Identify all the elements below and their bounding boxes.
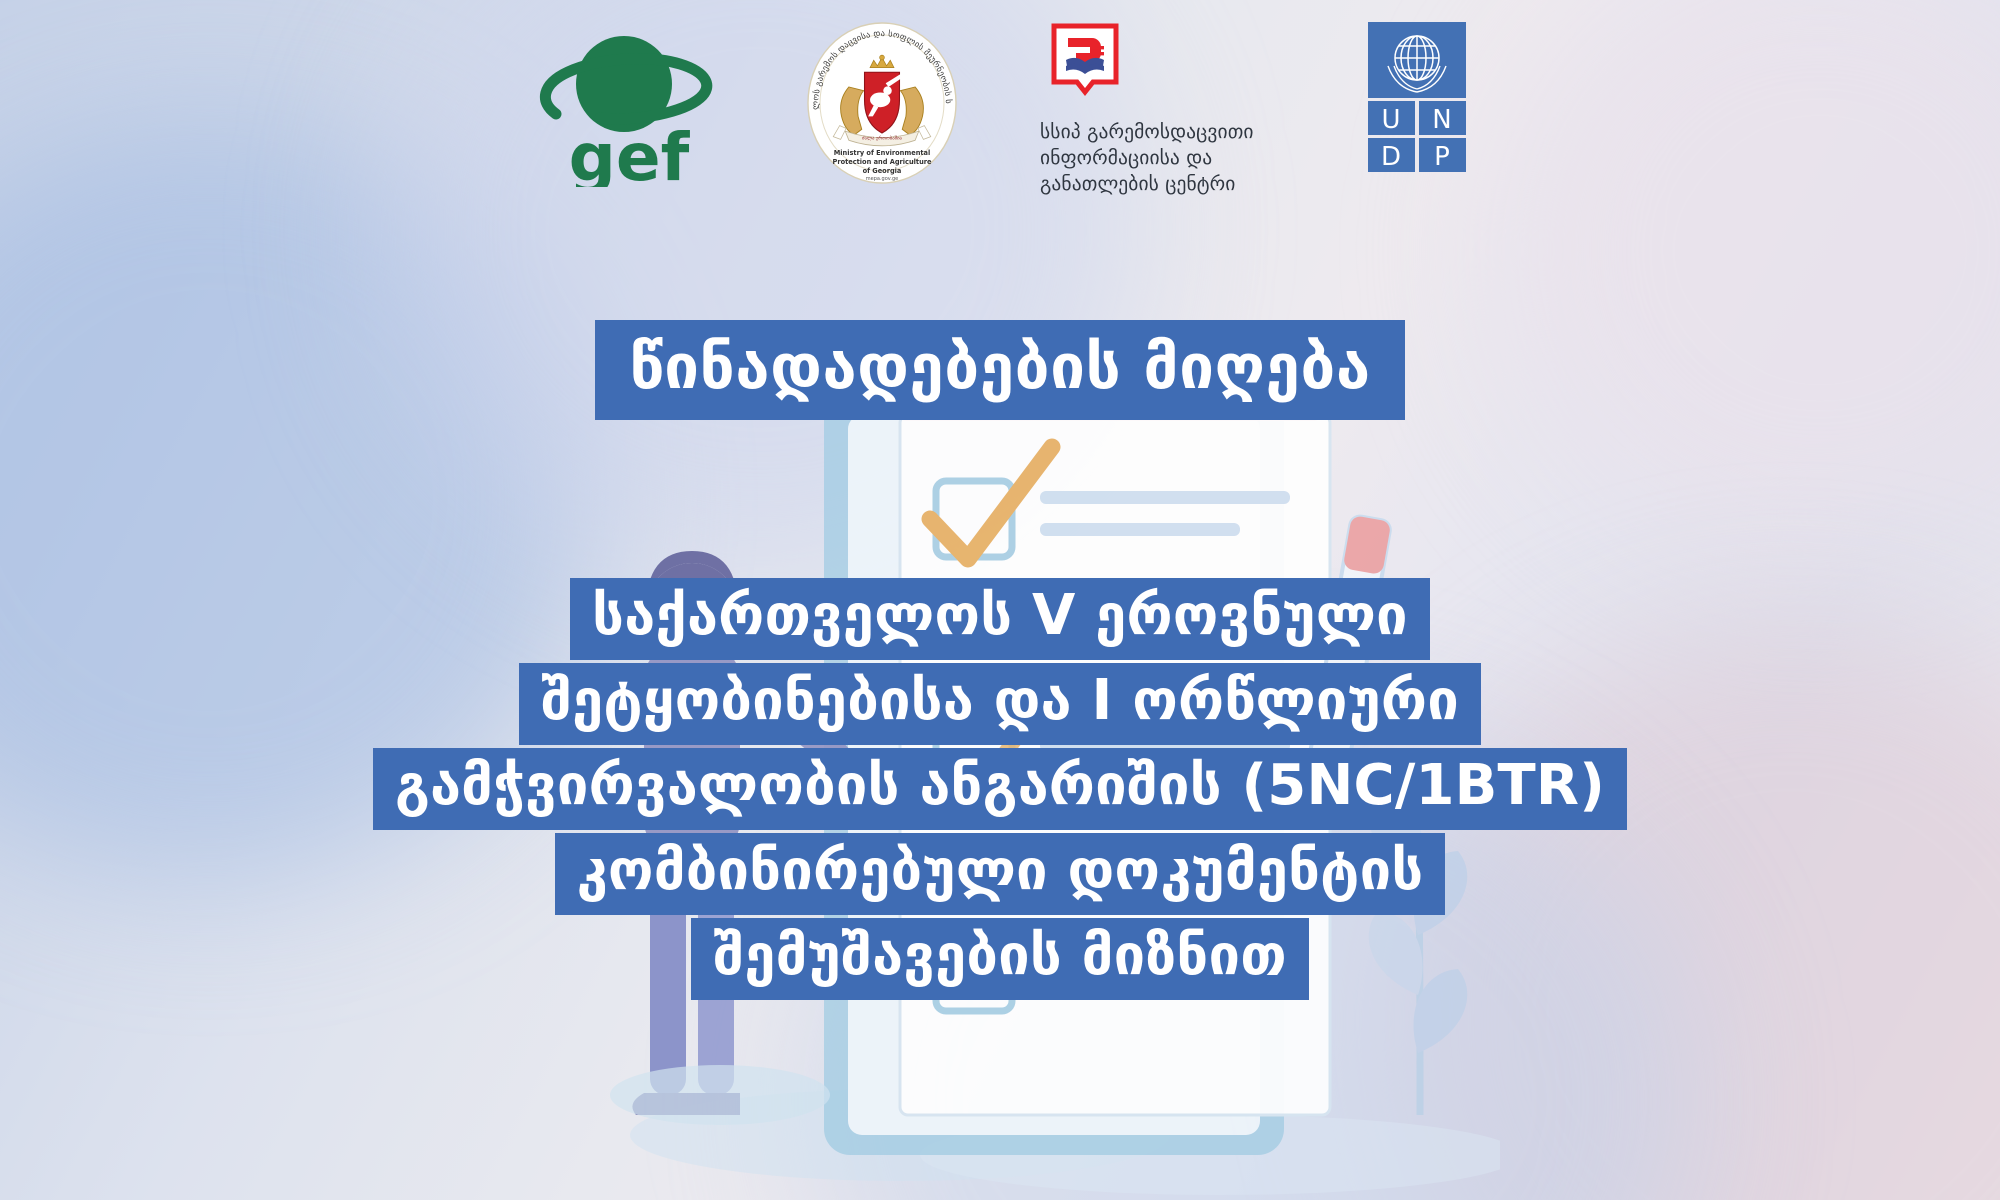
subtitle-line-2: შეტყობინებისა და I ორწლიური bbox=[519, 663, 1481, 745]
page-title: წინადადებების მიღება bbox=[595, 320, 1404, 420]
undp-logo: U N D P bbox=[1368, 22, 1466, 172]
gef-wordmark: gef bbox=[569, 119, 691, 187]
eiec-logo: სსიპ გარემოსდაცვითი ინფორმაციისა და განა… bbox=[1040, 22, 1290, 197]
georgia-ministry-seal-icon: საქართველოს გარემოს დაცვისა და სოფლის მე… bbox=[802, 22, 962, 184]
subtitle-line-4: კომბინირებული დოკუმენტის bbox=[555, 833, 1446, 915]
subtitle-block: საქართველოს V ეროვნული შეტყობინებისა და … bbox=[0, 578, 2000, 1003]
undp-letter-n: N bbox=[1432, 105, 1451, 135]
eiec-caption: სსიპ გარემოსდაცვითი ინფორმაციისა და განა… bbox=[1040, 119, 1254, 197]
undp-letter-d: D bbox=[1381, 142, 1401, 172]
svg-text:of Georgia: of Georgia bbox=[863, 167, 902, 175]
gef-logo: gef bbox=[534, 22, 724, 187]
poster-canvas: gef საქართველოს გარემოს დაცვისა და სოფლი… bbox=[0, 0, 2000, 1200]
logo-bar: gef საქართველოს გარემოს დაცვისა და სოფლი… bbox=[0, 22, 2000, 197]
undp-letter-p: P bbox=[1434, 142, 1450, 172]
subtitle-line-3: გამჭვირვალობის ანგარიშის (5NC/1BTR) bbox=[373, 748, 1627, 830]
mepa-logo: საქართველოს გარემოს დაცვისა და სოფლის მე… bbox=[802, 22, 962, 184]
svg-text:Ministry of Environmental: Ministry of Environmental bbox=[834, 149, 931, 157]
svg-text:mepa.gov.ge: mepa.gov.ge bbox=[866, 176, 898, 182]
undp-emblem-icon: U N D P bbox=[1368, 22, 1466, 172]
subtitle-line-5: შემუშავების მიზნით bbox=[691, 918, 1309, 1000]
eiec-shield-icon bbox=[1050, 22, 1120, 110]
subtitle-line-1: საქართველოს V ეროვნული bbox=[570, 578, 1430, 660]
gef-planet-icon: gef bbox=[534, 22, 724, 187]
undp-letter-u: U bbox=[1381, 105, 1400, 135]
title-block: წინადადებების მიღება bbox=[0, 320, 2000, 420]
svg-text:Protection and Agriculture: Protection and Agriculture bbox=[832, 158, 932, 166]
